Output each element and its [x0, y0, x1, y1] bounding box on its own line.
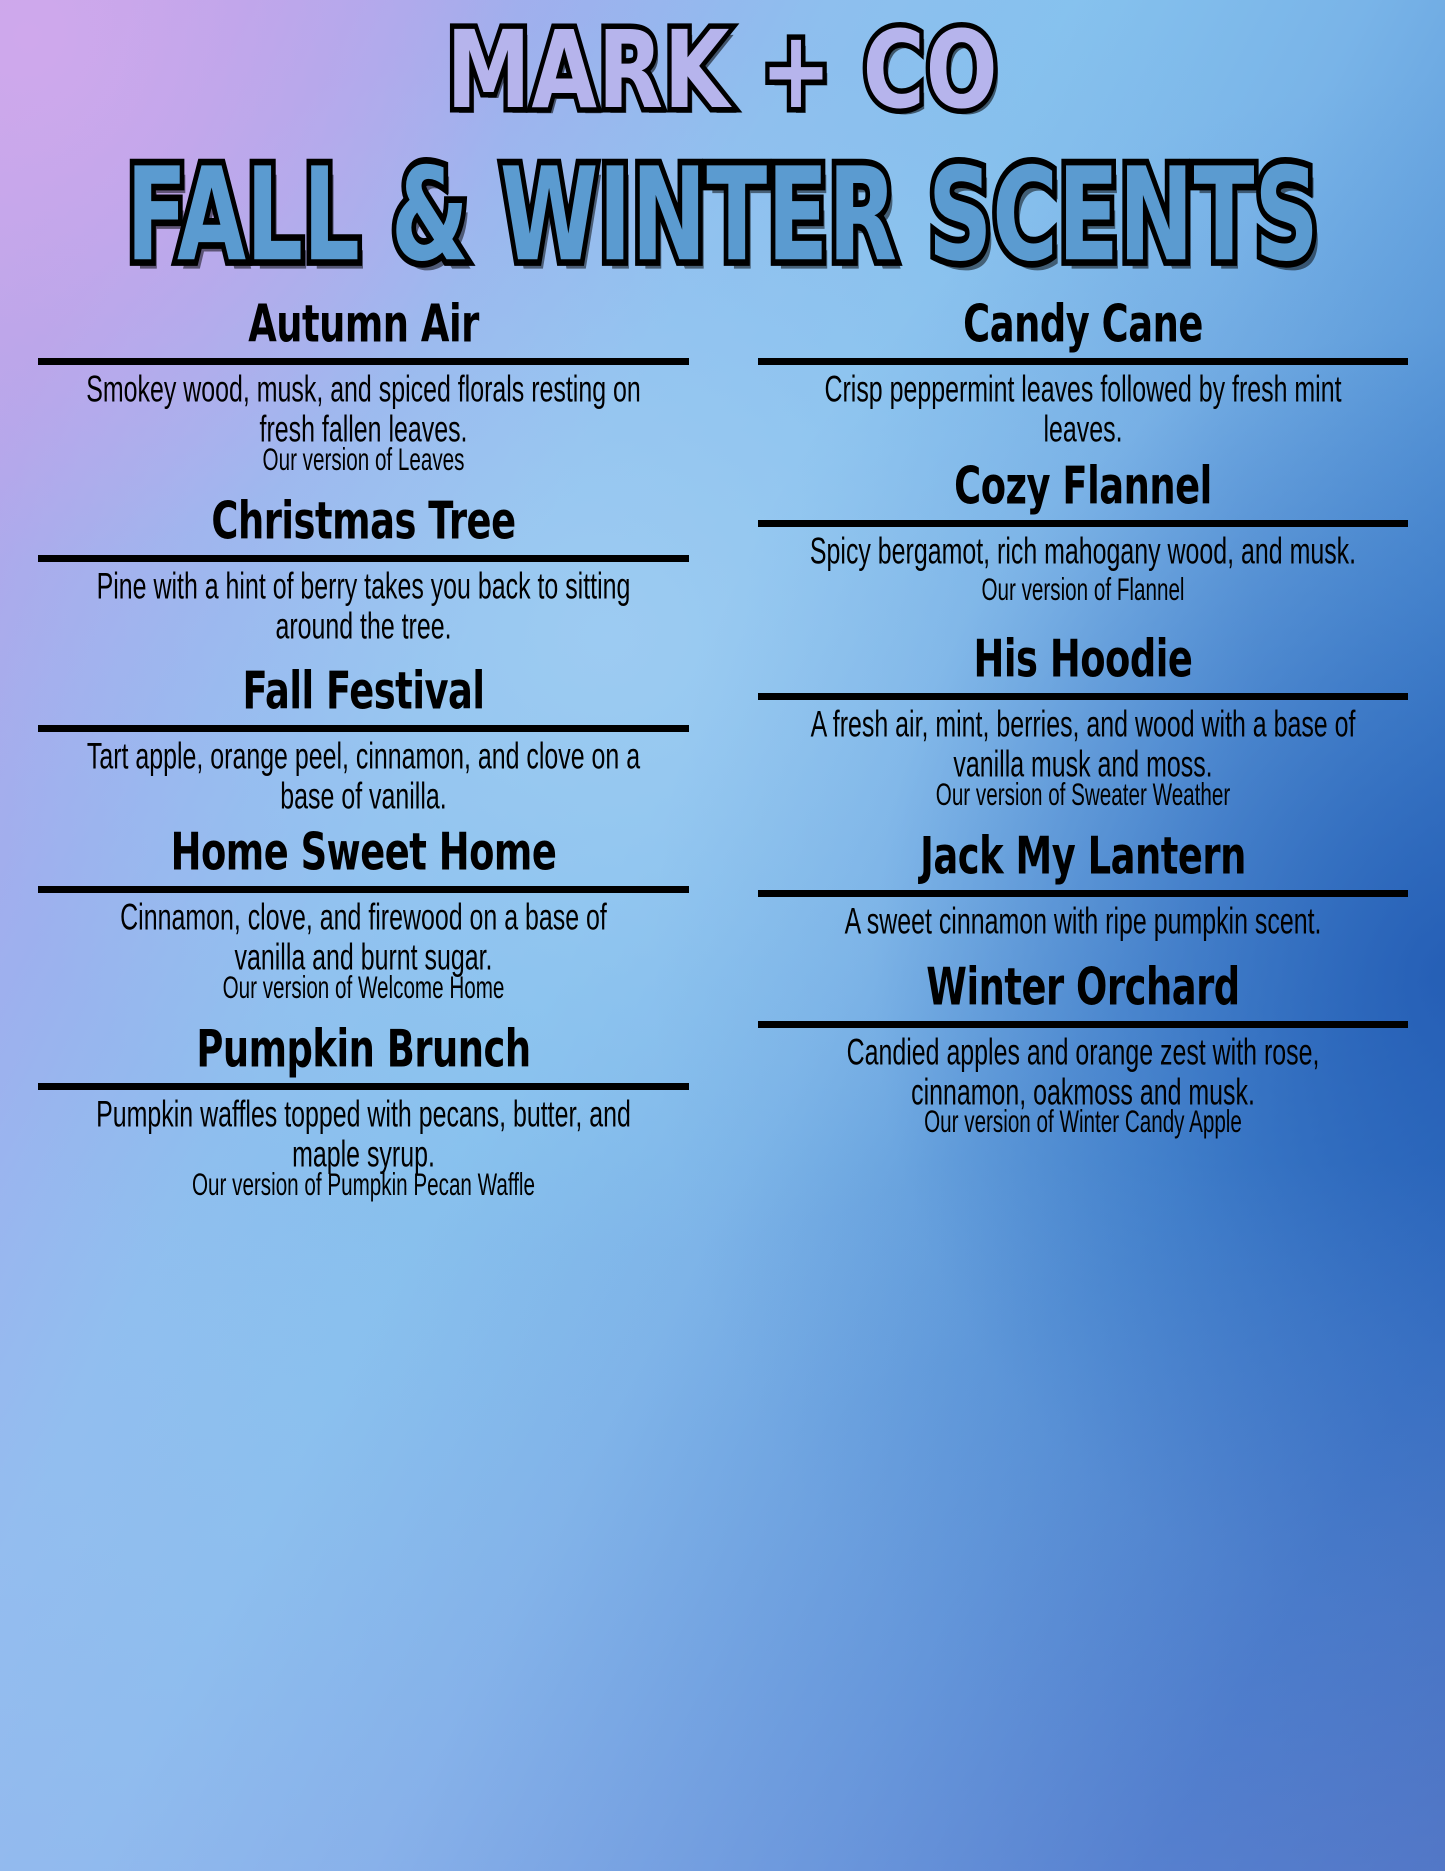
scent-description: Pumpkin waffles topped with pecans, butt…: [84, 1096, 644, 1176]
scent-description: Cinnamon, clove, and firewood on a base …: [84, 899, 644, 979]
scent-name: Home Sweet Home: [48, 826, 679, 878]
scent-name: Christmas Tree: [48, 495, 679, 547]
scent-card: Jack My LanternA sweet cinnamon with rip…: [758, 830, 1408, 934]
scent-description: Pine with a hint of berry takes you back…: [84, 568, 644, 648]
scent-version-note: Our version of Pumpkin Pecan Waffle: [84, 1169, 644, 1202]
scent-card: Home Sweet HomeCinnamon, clove, and fire…: [38, 826, 689, 997]
scent-divider: [758, 693, 1408, 700]
scent-name: His Hoodie: [768, 633, 1399, 685]
brand-title: MARK + CO: [29, 18, 1416, 123]
scent-divider: [38, 725, 689, 732]
scent-divider: [38, 886, 689, 893]
scent-menu-poster: MARK + CO FALL & WINTER SCENTS Autumn Ai…: [0, 0, 1445, 1871]
scent-grid: Autumn AirSmokey wood, musk, and spiced …: [0, 298, 1445, 1194]
scent-description: Tart apple, orange peel, cinnamon, and c…: [84, 738, 644, 818]
scent-card: Autumn AirSmokey wood, musk, and spiced …: [38, 298, 689, 469]
scent-name: Candy Cane: [768, 298, 1399, 350]
scent-version-note: Our version of Winter Candy Apple: [804, 1106, 1363, 1139]
poster-header: MARK + CO FALL & WINTER SCENTS: [0, 0, 1445, 246]
scent-description: A sweet cinnamon with ripe pumpkin scent…: [804, 903, 1363, 943]
scent-card: Christmas TreePine with a hint of berry …: [38, 495, 689, 631]
section-title: FALL & WINTER SCENTS: [51, 152, 1395, 278]
scent-version-note: Our version of Sweater Weather: [804, 779, 1363, 812]
scent-description: Crisp peppermint leaves followed by fres…: [804, 371, 1363, 451]
scent-name: Pumpkin Brunch: [48, 1023, 679, 1075]
scent-description: Smokey wood, musk, and spiced florals re…: [84, 371, 644, 451]
scent-name: Autumn Air: [48, 298, 679, 350]
scent-divider: [38, 555, 689, 562]
scent-card: Winter OrchardCandied apples and orange …: [758, 961, 1408, 1132]
scent-card: His HoodieA fresh air, mint, berries, an…: [758, 633, 1408, 804]
scent-divider: [758, 358, 1408, 365]
scent-version-note: Our version of Welcome Home: [84, 972, 644, 1005]
scent-name: Winter Orchard: [768, 961, 1399, 1013]
scent-description: Spicy bergamot, rich mahogany wood, and …: [804, 533, 1363, 573]
scent-column-left: Autumn AirSmokey wood, musk, and spiced …: [0, 298, 689, 1194]
scent-version-note: Our version of Flannel: [804, 574, 1363, 607]
scent-version-note: Our version of Leaves: [84, 444, 644, 477]
scent-name: Fall Festival: [48, 665, 679, 717]
scent-divider: [38, 358, 689, 365]
scent-card: Pumpkin BrunchPumpkin waffles topped wit…: [38, 1023, 689, 1194]
scent-divider: [758, 890, 1408, 897]
scent-name: Cozy Flannel: [768, 460, 1399, 512]
scent-description: Candied apples and orange zest with rose…: [804, 1034, 1363, 1114]
scent-divider: [758, 1021, 1408, 1028]
scent-description: A fresh air, mint, berries, and wood wit…: [804, 706, 1363, 786]
scent-card: Candy CaneCrisp peppermint leaves follow…: [758, 298, 1408, 434]
scent-card: Fall FestivalTart apple, orange peel, ci…: [38, 665, 689, 801]
scent-divider: [758, 520, 1408, 527]
scent-column-right: Candy CaneCrisp peppermint leaves follow…: [689, 298, 1445, 1194]
scent-card: Cozy FlannelSpicy bergamot, rich mahogan…: [758, 460, 1408, 600]
scent-divider: [38, 1083, 689, 1090]
scent-name: Jack My Lantern: [768, 830, 1399, 882]
